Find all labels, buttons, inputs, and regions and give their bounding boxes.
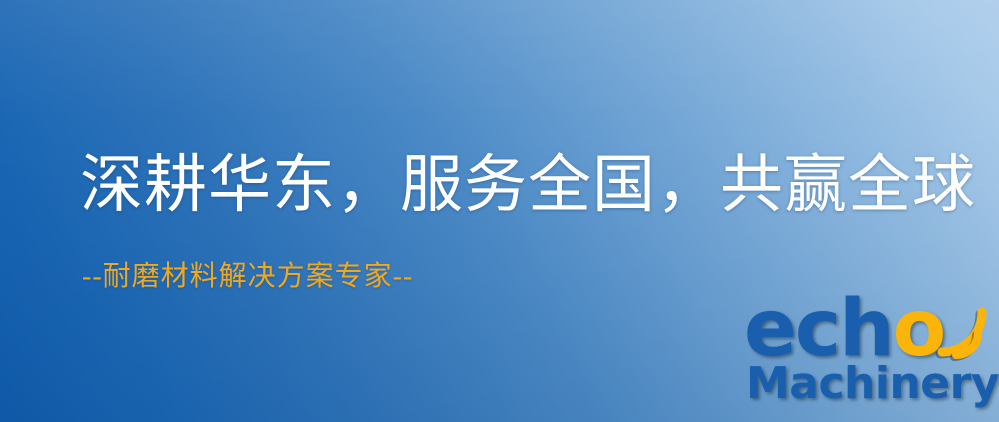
logo-brand-text: echo	[744, 290, 944, 368]
banner-subtitle: --耐磨材料解决方案专家--	[82, 262, 413, 293]
logo-tagline: Machinery®	[746, 362, 999, 406]
banner-headline: 深耕华东，服务全国，共赢全球	[80, 152, 976, 218]
company-logo[interactable]: echo Machinery®	[742, 296, 994, 420]
logo-tagline-text: Machinery	[746, 358, 999, 409]
echo-wave-icon	[928, 292, 998, 362]
hero-banner: 深耕华东，服务全国，共赢全球 --耐磨材料解决方案专家-- echo Machi…	[0, 0, 999, 422]
